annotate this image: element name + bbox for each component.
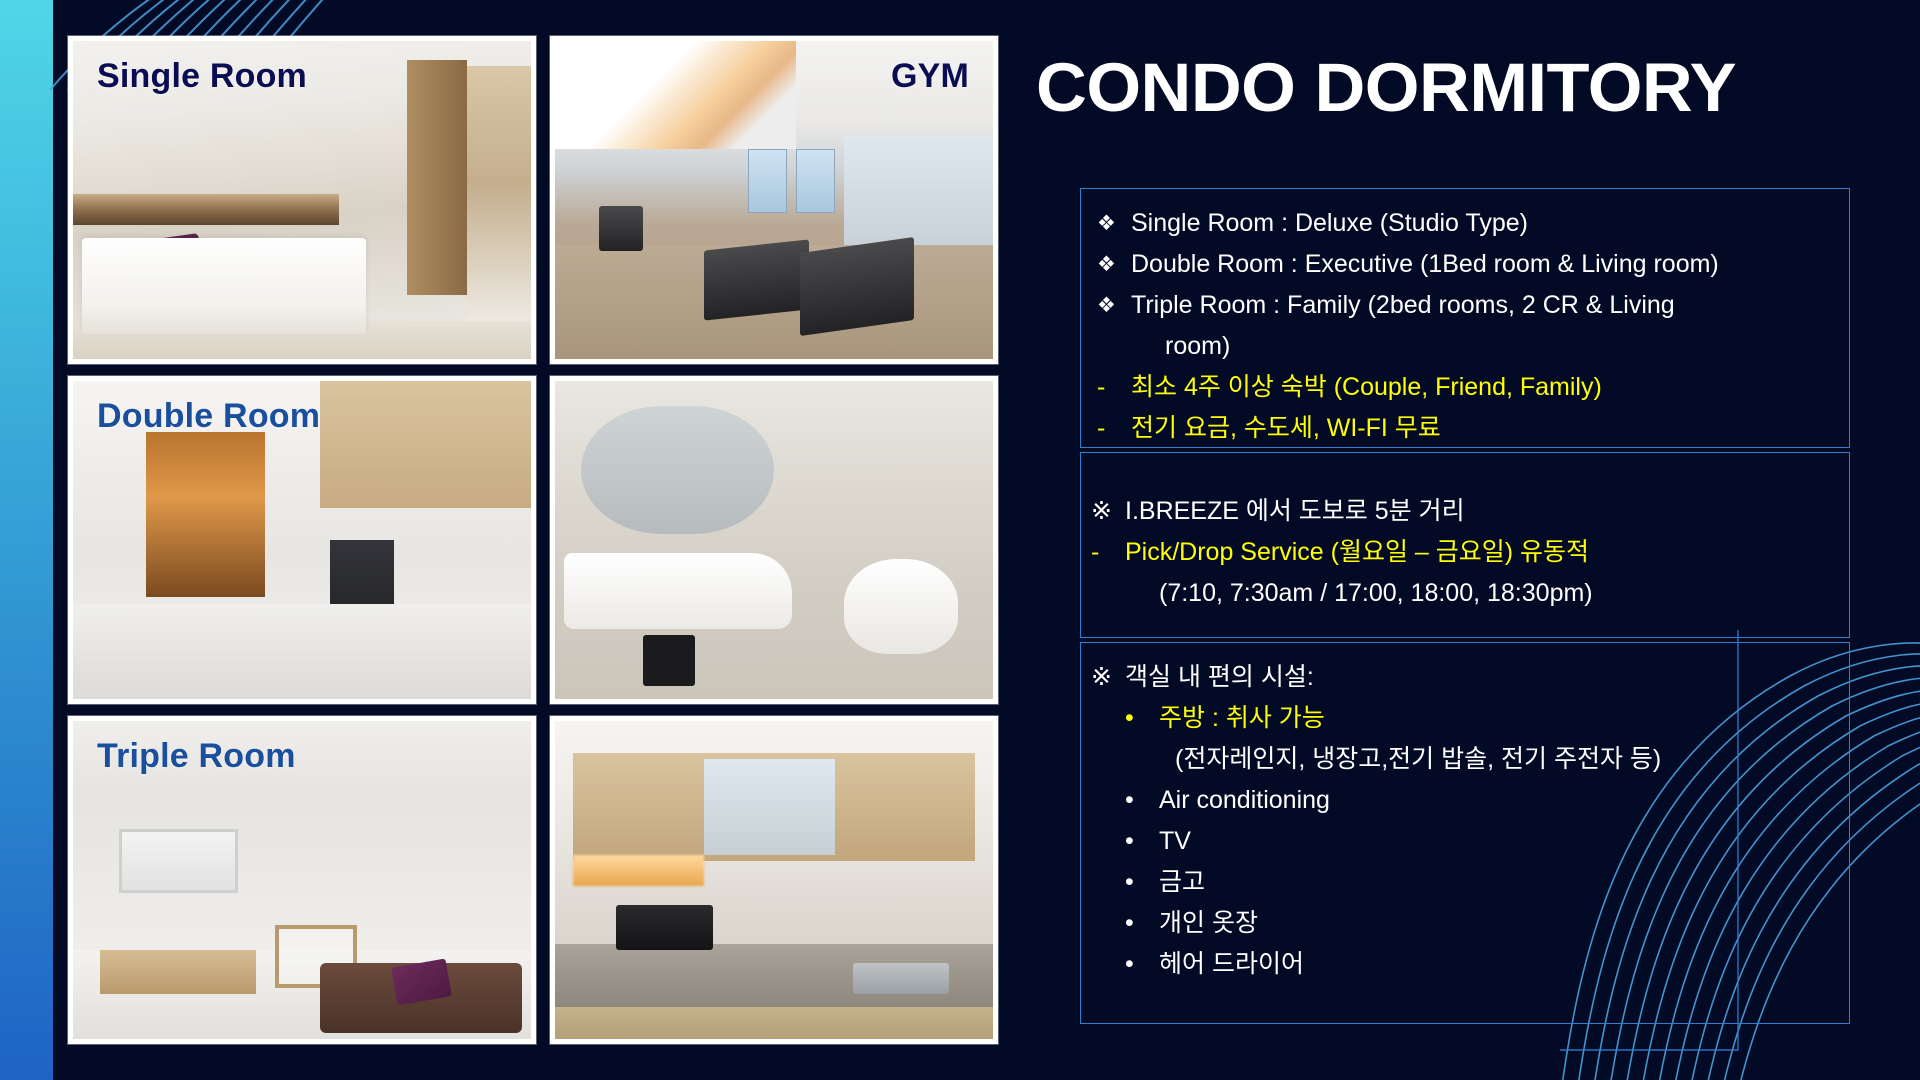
room-type-text-5: 전기 요금, 수도세, WI-FI 무료 [1131, 408, 1441, 449]
info-box-amenities: ※객실 내 편의 시설:•주방 : 취사 가능(전자레인지, 냉장고,전기 밥솔… [1080, 642, 1850, 1024]
photo-gym[interactable]: GYM [550, 36, 998, 364]
amenity-text-5: 금고 [1159, 862, 1205, 903]
room-type-line-3: room) [1097, 326, 1849, 367]
door-shape [407, 60, 467, 295]
amenity-text-1: 주방 : 취사 가능 [1159, 698, 1325, 739]
open-shelf-shape [704, 759, 835, 854]
photo-grid: Single Room GYM Double Room [68, 36, 998, 1046]
room-types-list: ❖Single Room : Deluxe (Studio Type)❖Doub… [1081, 189, 1849, 449]
sink-shape [853, 963, 949, 995]
diamond-bullet-icon: ❖ [1097, 203, 1131, 244]
treadmill-shape [800, 237, 914, 336]
room-type-text-0: Single Room : Deluxe (Studio Type) [1131, 203, 1528, 244]
amenity-line-2: (전자레인지, 냉장고,전기 밥솔, 전기 주전자 등) [1091, 739, 1849, 780]
room-type-text-2: Triple Room : Family (2bed rooms, 2 CR &… [1131, 285, 1675, 326]
treadmill-shape [704, 239, 809, 320]
room-type-line-5: -전기 요금, 수도세, WI-FI 무료 [1097, 408, 1849, 449]
reference-mark-icon: ※ [1091, 657, 1125, 698]
amenity-line-1: •주방 : 취사 가능 [1091, 698, 1849, 739]
kitchenette-shape [467, 66, 531, 327]
info-box-location-transport: ※I.BREEZE 에서 도보로 5분 거리-Pick/Drop Service… [1080, 452, 1850, 638]
sink-shape [564, 553, 792, 629]
left-accent-bar [0, 0, 53, 1080]
dot-bullet-icon: • [1125, 944, 1159, 985]
photo-triple-room[interactable]: Triple Room [68, 716, 536, 1044]
dot-bullet-icon: • [1125, 821, 1159, 862]
photo-double-room[interactable]: Double Room [68, 376, 536, 704]
amenity-text-7: 헤어 드라이어 [1159, 944, 1304, 985]
dot-bullet-icon: • [1125, 903, 1159, 944]
room-type-line-4: -최소 4주 이상 숙박 (Couple, Friend, Family) [1097, 367, 1849, 408]
transport-line-0: ※I.BREEZE 에서 도보로 5분 거리 [1091, 491, 1849, 532]
page-title: CONDO DORMITORY [1036, 48, 1920, 127]
info-box-room-types: ❖Single Room : Deluxe (Studio Type)❖Doub… [1080, 188, 1850, 448]
photo-label-single-room: Single Room [97, 57, 307, 96]
dash-bullet-icon: - [1097, 408, 1131, 449]
amenity-text-4: TV [1159, 821, 1191, 862]
pillow-shape [126, 233, 204, 281]
window-shape [796, 149, 835, 213]
amenity-line-3: •Air conditioning [1091, 780, 1849, 821]
corridor-shape [146, 432, 265, 597]
weights-shape [599, 206, 643, 251]
amenity-line-0: ※객실 내 편의 시설: [1091, 657, 1849, 698]
console-shape [100, 950, 256, 995]
dot-bullet-icon: • [1125, 862, 1159, 903]
dot-bullet-icon: • [1125, 780, 1159, 821]
room-type-line-2: ❖Triple Room : Family (2bed rooms, 2 CR … [1097, 285, 1849, 326]
info-panel: CONDO DORMITORY ❖Single Room : Deluxe (S… [1020, 0, 1920, 1080]
transport-line-1: -Pick/Drop Service (월요일 – 금요일) 유동적 [1091, 532, 1849, 573]
diamond-bullet-icon: ❖ [1097, 285, 1131, 326]
photo-kitchen[interactable] [550, 716, 998, 1044]
amenity-text-3: Air conditioning [1159, 780, 1330, 821]
transport-line-2: (7:10, 7:30am / 17:00, 18:00, 18:30pm) [1091, 573, 1849, 614]
bin-shape [643, 635, 696, 686]
transport-text-1: Pick/Drop Service (월요일 – 금요일) 유동적 [1125, 532, 1589, 573]
photo-label-triple-room: Triple Room [97, 737, 296, 776]
amenity-text-0: 객실 내 편의 시설: [1125, 657, 1314, 698]
room-type-text-3: room) [1165, 326, 1230, 367]
room-type-text-4: 최소 4주 이상 숙박 (Couple, Friend, Family) [1131, 367, 1602, 408]
amenity-line-5: •금고 [1091, 862, 1849, 903]
photo-label-gym: GYM [891, 57, 969, 96]
ceiling-glow-shape [555, 41, 796, 149]
floor-shape [73, 321, 531, 359]
photo-bathroom[interactable] [550, 376, 998, 704]
amenity-line-6: •개인 옷장 [1091, 903, 1849, 944]
transport-text-0: I.BREEZE 에서 도보로 5분 거리 [1125, 491, 1465, 532]
amenity-text-2: (전자레인지, 냉장고,전기 밥솔, 전기 주전자 등) [1175, 739, 1661, 780]
amenity-line-7: •헤어 드라이어 [1091, 944, 1849, 985]
microwave-shape [616, 905, 712, 950]
room-type-line-1: ❖Double Room : Executive (1Bed room & Li… [1097, 244, 1849, 285]
floor-shape [73, 604, 531, 699]
reference-mark-icon: ※ [1091, 491, 1125, 532]
photo-single-room[interactable]: Single Room [68, 36, 536, 364]
dash-bullet-icon: - [1091, 532, 1125, 573]
room-type-text-1: Double Room : Executive (1Bed room & Liv… [1131, 244, 1719, 285]
mirror-shape [581, 406, 774, 533]
diamond-bullet-icon: ❖ [1097, 244, 1131, 285]
amenities-list: ※객실 내 편의 시설:•주방 : 취사 가능(전자레인지, 냉장고,전기 밥솔… [1081, 643, 1849, 985]
amenity-text-6: 개인 옷장 [1159, 903, 1258, 944]
toilet-shape [844, 559, 958, 654]
amenity-line-4: •TV [1091, 821, 1849, 862]
room-type-line-0: ❖Single Room : Deluxe (Studio Type) [1097, 203, 1849, 244]
cabinet-shape [320, 381, 531, 508]
dot-bullet-icon: • [1125, 698, 1159, 739]
tv-shape [119, 829, 238, 893]
transport-text-2: (7:10, 7:30am / 17:00, 18:00, 18:30pm) [1159, 573, 1593, 614]
hood-light-shape [573, 855, 704, 887]
dash-bullet-icon: - [1097, 367, 1131, 408]
location-transport-list: ※I.BREEZE 에서 도보로 5분 거리-Pick/Drop Service… [1081, 453, 1849, 614]
photo-label-double-room: Double Room [97, 397, 320, 436]
window-shape [748, 149, 787, 213]
